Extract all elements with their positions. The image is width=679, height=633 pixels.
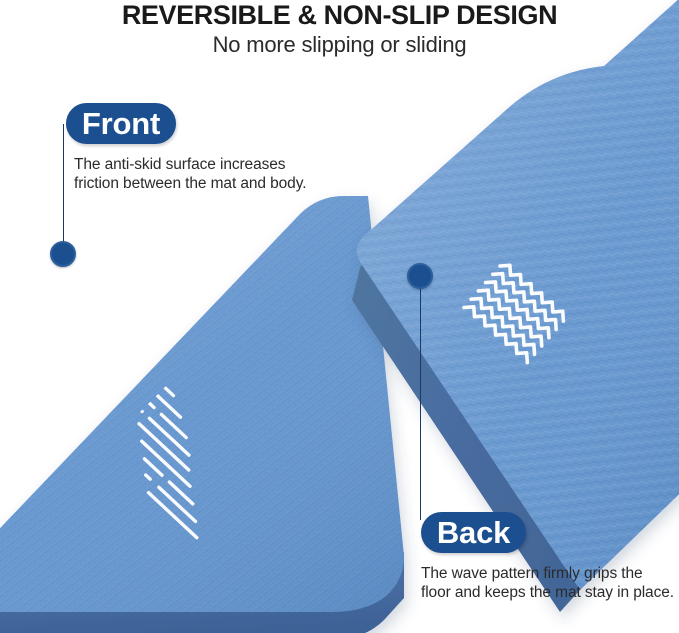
leader-line-front — [63, 124, 65, 256]
marker-dot-front[interactable] — [50, 241, 76, 267]
marker-dot-back[interactable] — [407, 263, 433, 289]
page-subtitle: No more slipping or sliding — [0, 31, 679, 59]
leader-line-back — [420, 285, 422, 520]
product-illustration — [0, 0, 679, 633]
callout-description-back: The wave pattern firmly grips the floor … — [421, 564, 679, 602]
page-title: REVERSIBLE & NON-SLIP DESIGN — [0, 0, 679, 30]
infographic-canvas: REVERSIBLE & NON-SLIP DESIGN No more sli… — [0, 0, 679, 633]
badge-back[interactable]: Back — [421, 512, 526, 553]
callout-description-front: The anti-skid surface increases friction… — [74, 155, 354, 193]
badge-front[interactable]: Front — [66, 103, 176, 144]
